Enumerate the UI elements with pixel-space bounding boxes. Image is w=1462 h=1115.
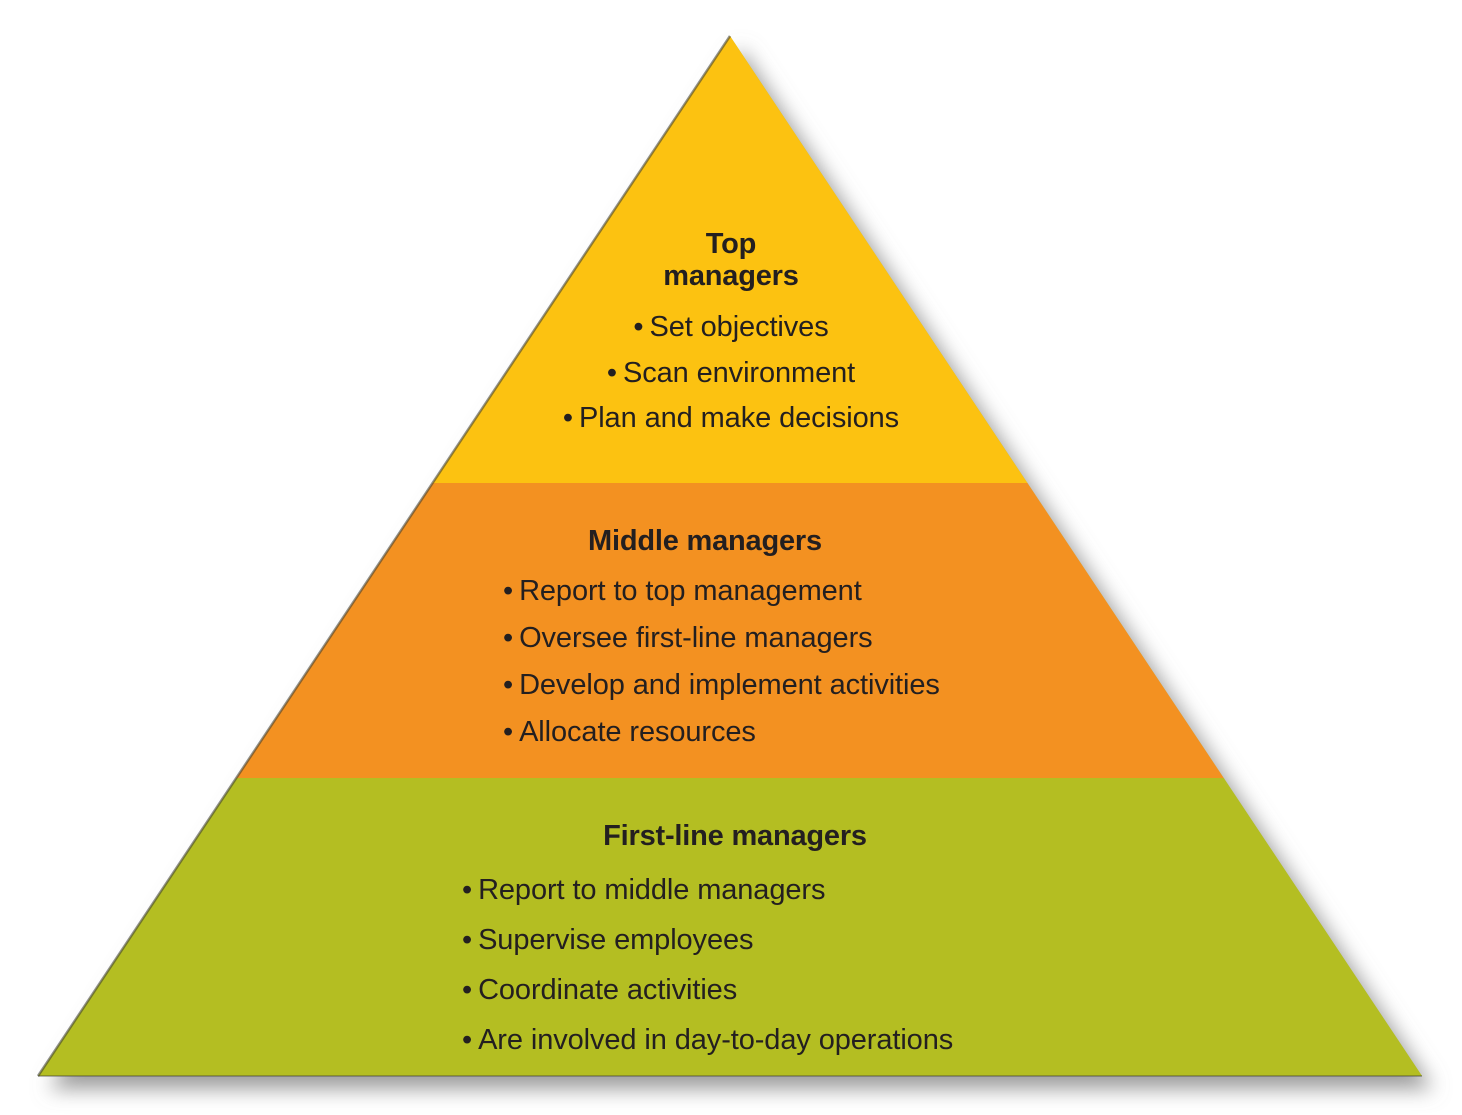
tier-bottom-bullet-list: •Report to middle managers •Supervise em… [430,872,1050,1059]
tier-middle-bullet-list: •Report to top management •Oversee first… [405,573,1005,751]
list-item: •Develop and implement activities [503,667,1005,705]
tier-middle-title: Middle managers [405,525,1005,557]
tier-top-title-line-1: Top [431,228,1031,260]
list-item-label: Develop and implement activities [519,669,940,701]
tier-top-title-line-2: managers [431,260,1031,292]
bullet-icon: • [462,972,472,1010]
list-item: •Oversee first-line managers [503,620,1005,658]
list-item: •Set objectives [431,309,1031,347]
list-item-label: Coordinate activities [478,974,737,1006]
list-item-label: Are involved in day-to-day operations [478,1024,953,1056]
list-item-label: Report to top management [519,575,862,607]
pyramid-diagram: Top managers •Set objectives •Scan envir… [0,0,1462,1115]
tier-bottom-title: First-line managers [430,820,1050,852]
list-item: •Supervise employees [462,922,1050,960]
bullet-icon: • [462,1022,472,1060]
list-item: •Are involved in day-to-day operations [462,1022,1050,1060]
bullet-icon: • [633,309,643,347]
tier-first-line-managers: First-line managers •Report to middle ma… [430,820,1050,1071]
list-item: •Plan and make decisions [431,400,1031,438]
bullet-icon: • [462,872,472,910]
list-item: •Report to middle managers [462,872,1050,910]
bullet-icon: • [503,714,513,752]
list-item-label: Scan environment [623,357,855,389]
list-item-label: Report to middle managers [478,874,825,906]
bullet-icon: • [462,922,472,960]
bullet-icon: • [503,620,513,658]
bullet-icon: • [503,573,513,611]
bullet-icon: • [607,355,617,393]
list-item: •Report to top management [503,573,1005,611]
bullet-icon: • [503,667,513,705]
list-item: •Scan environment [431,355,1031,393]
list-item-label: Supervise employees [478,924,753,956]
tier-top-managers: Top managers •Set objectives •Scan envir… [431,228,1031,446]
list-item-label: Set objectives [649,311,828,343]
tier-top-bullet-list: •Set objectives •Scan environment •Plan … [431,309,1031,438]
bullet-icon: • [563,400,573,438]
list-item: •Allocate resources [503,714,1005,752]
tier-top-title: Top managers [431,228,1031,293]
list-item: •Coordinate activities [462,972,1050,1010]
tier-middle-managers: Middle managers •Report to top managemen… [405,525,1005,760]
list-item-label: Allocate resources [519,716,756,748]
list-item-label: Oversee first-line managers [519,622,873,654]
list-item-label: Plan and make decisions [579,402,899,434]
